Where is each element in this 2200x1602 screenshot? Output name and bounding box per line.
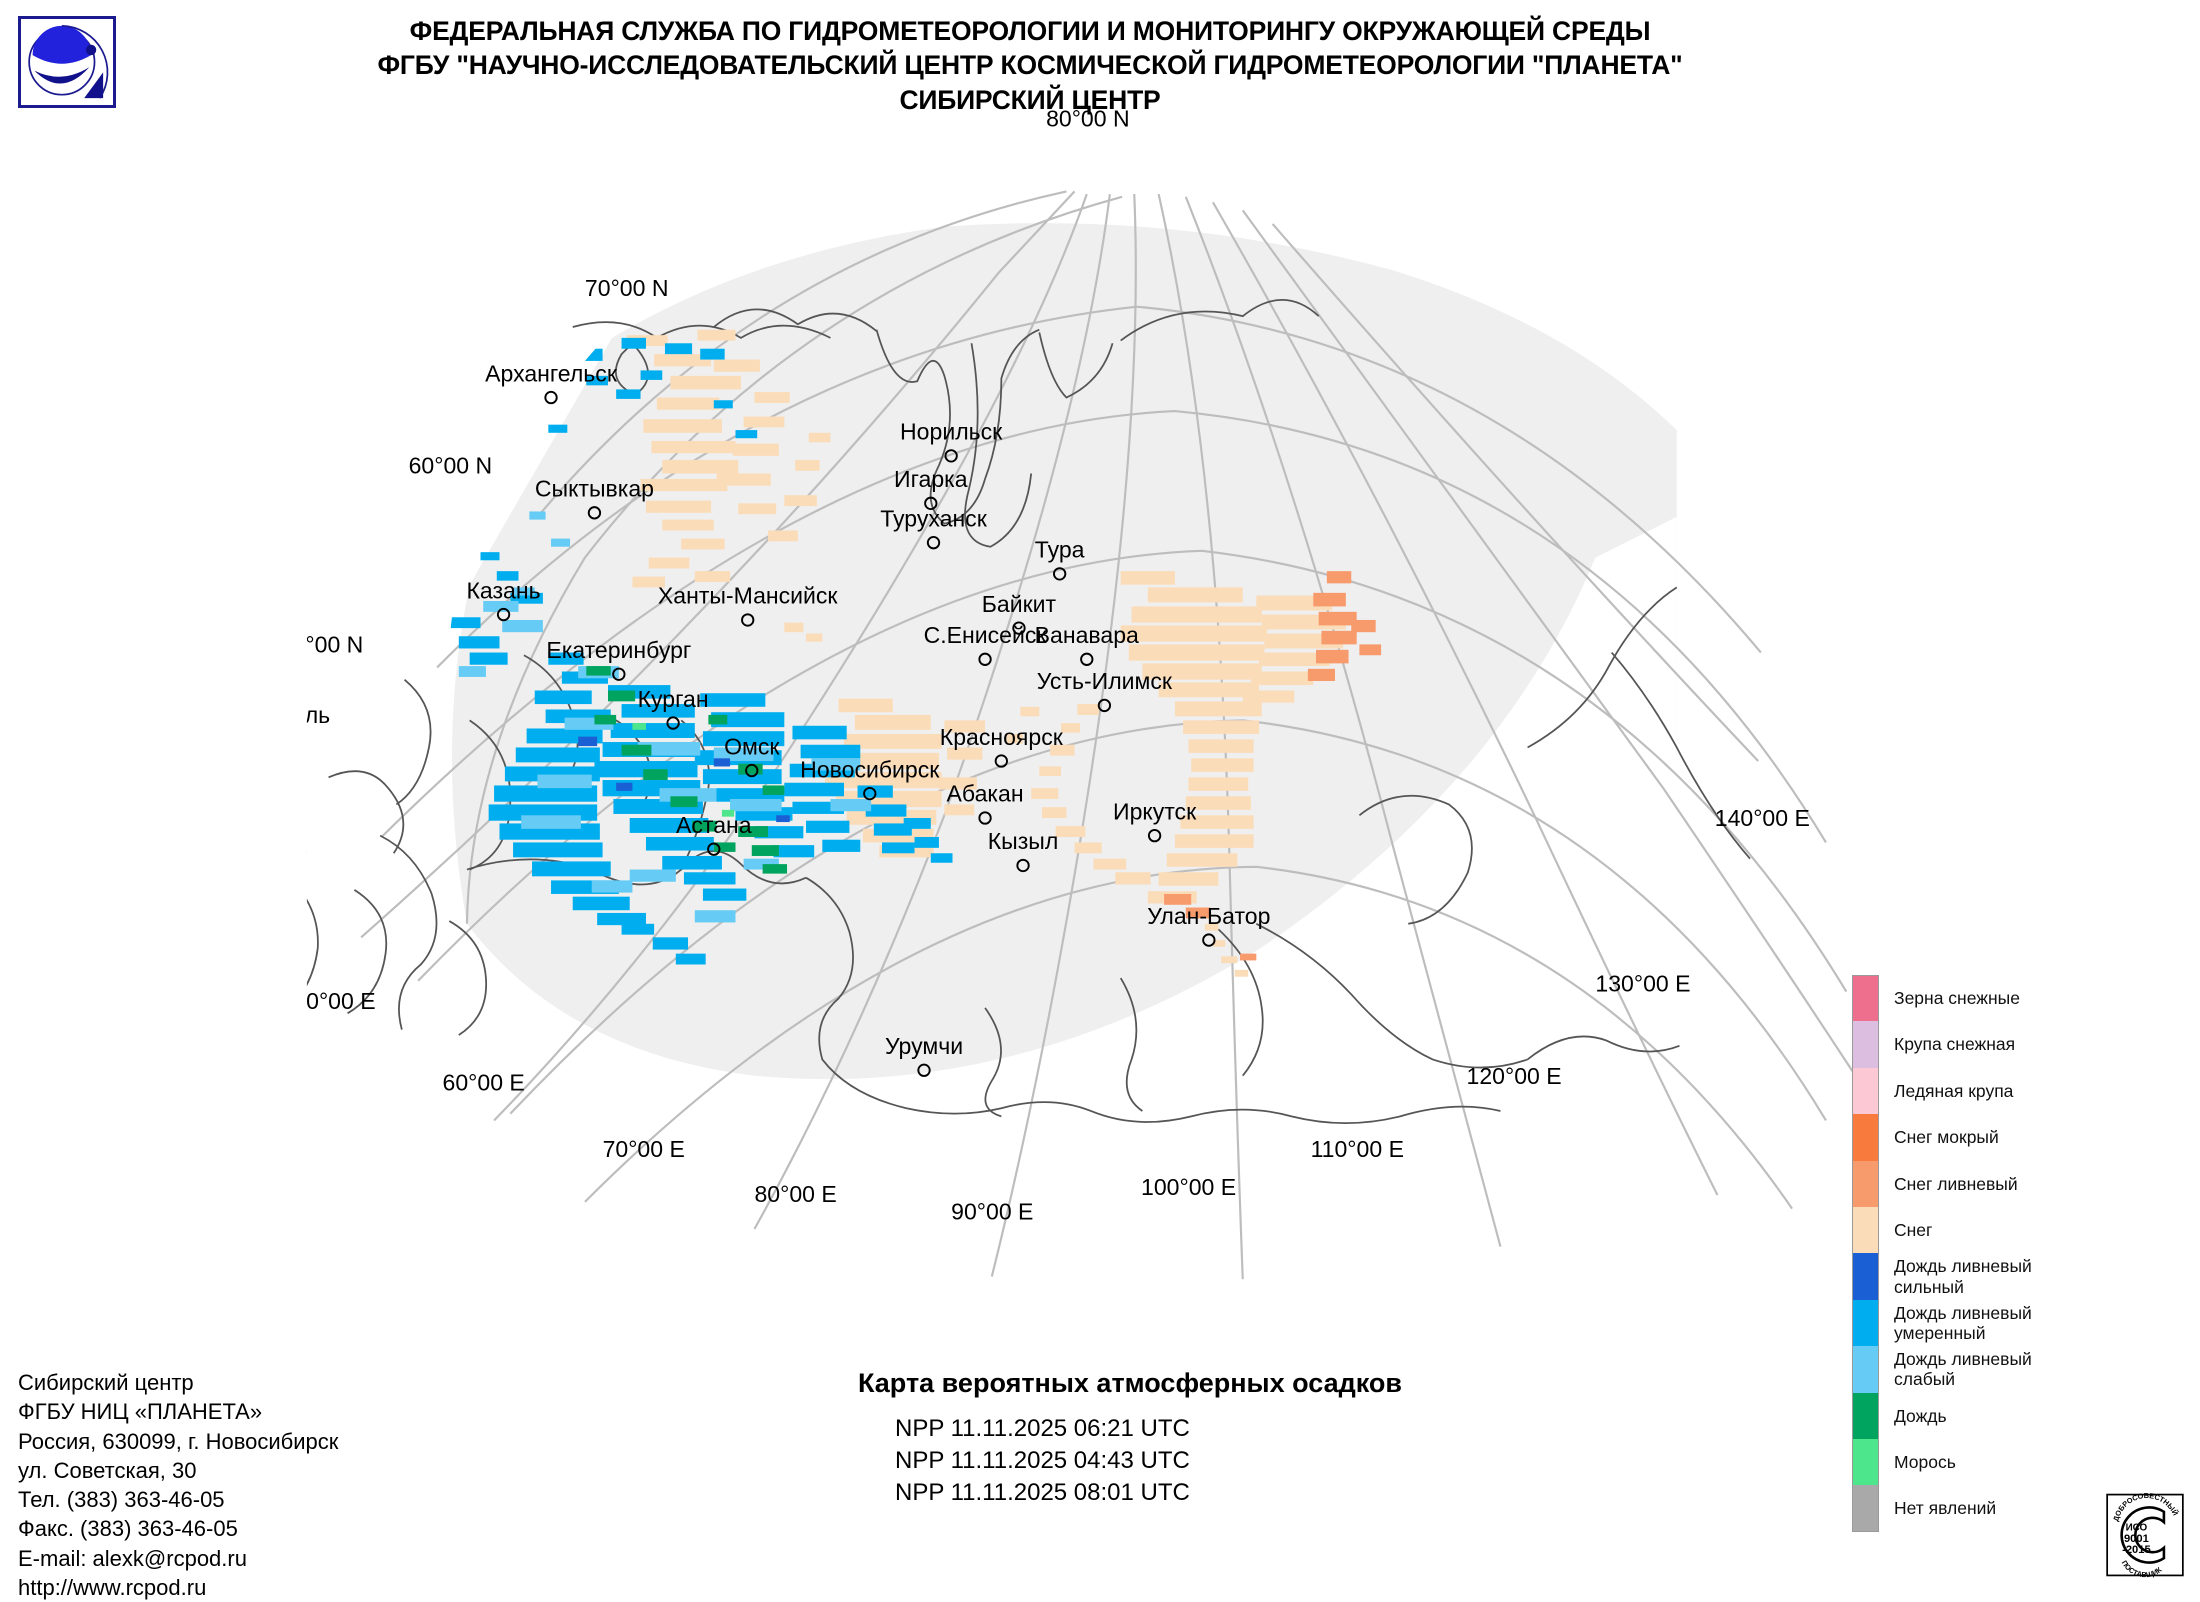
contact-block: Сибирский центр ФГБУ НИЦ «ПЛАНЕТА» Росси…: [18, 1368, 338, 1602]
map-caption: Карта вероятных атмосферных осадков NPP …: [600, 1368, 1660, 1509]
graticule-label: 60°00 N: [409, 452, 493, 478]
city-point-icon: [545, 392, 556, 403]
city-label: Тура: [1035, 537, 1085, 563]
svg-text:-2015: -2015: [2122, 1544, 2151, 1556]
graticule-label: 70°00 E: [603, 1136, 685, 1162]
legend-row[interactable]: Ледяная крупа: [1852, 1068, 2182, 1114]
header-line-2: ФГБУ "НАУЧНО-ИССЛЕДОВАТЕЛЬСКИЙ ЦЕНТР КОС…: [150, 48, 1910, 82]
legend-row[interactable]: Дождь ливневый слабый: [1852, 1346, 2182, 1392]
legend-color-swatch: [1852, 1393, 1879, 1439]
contact-phone: Тел. (383) 363-46-05: [18, 1485, 338, 1514]
legend-label: Дождь ливневый сильный: [1894, 1256, 2032, 1297]
legend-color-swatch: [1852, 975, 1879, 1021]
svg-text:9001: 9001: [2124, 1533, 2149, 1545]
planeta-logo: [18, 16, 116, 108]
contact-fax: Факс. (383) 363-46-05: [18, 1514, 338, 1543]
graticule-label: 140°00 E: [1715, 805, 1810, 831]
legend-row[interactable]: Снег ливневый: [1852, 1161, 2182, 1207]
caption-pass-3: NPP 11.11.2025 08:01 UTC: [895, 1477, 1660, 1509]
precipitation-map[interactable]: 80°00 N70°00 N60°00 N50°00 N40°00 N40°00…: [300, 110, 1860, 1290]
city-label: Курган: [638, 686, 709, 712]
graticule-label: 80°00 N: [1046, 110, 1130, 131]
graticule-label: 90°00 E: [951, 1198, 1033, 1224]
legend-label: Дождь ливневый слабый: [1894, 1349, 2032, 1390]
legend-label: Зерна снежные: [1894, 988, 2020, 1008]
legend-label: Ледяная крупа: [1894, 1081, 2013, 1101]
caption-pass-2: NPP 11.11.2025 04:43 UTC: [895, 1445, 1660, 1477]
city-marker[interactable]: Ставрополь: [300, 702, 330, 745]
city-label: Туруханск: [880, 505, 987, 531]
city-label: Абакан: [947, 781, 1024, 807]
legend-label: Крупа снежная: [1894, 1034, 2015, 1054]
city-label: Омск: [724, 733, 780, 759]
legend-color-swatch: [1852, 1161, 1879, 1207]
city-label: Байкит: [982, 591, 1057, 617]
contact-email[interactable]: E-mail: alexk@rcpod.ru: [18, 1544, 338, 1573]
contact-website[interactable]: http://www.rcpod.ru: [18, 1573, 338, 1602]
graticule-label: 50°00 E: [300, 988, 376, 1014]
page-title: ФЕДЕРАЛЬНАЯ СЛУЖБА ПО ГИДРОМЕТЕОРОЛОГИИ …: [150, 14, 1910, 117]
city-label: Казань: [467, 577, 541, 603]
legend-label: Снег: [1894, 1220, 1932, 1240]
header-line-1: ФЕДЕРАЛЬНАЯ СЛУЖБА ПО ГИДРОМЕТЕОРОЛОГИИ …: [150, 14, 1910, 48]
graticule-label: 60°00 E: [443, 1070, 525, 1096]
city-label: Сыктывкар: [535, 476, 654, 502]
legend-color-swatch: [1852, 1253, 1879, 1299]
legend-label: Снег мокрый: [1894, 1127, 1999, 1147]
map-canvas[interactable]: 80°00 N70°00 N60°00 N50°00 N40°00 N40°00…: [300, 110, 1860, 1290]
city-label: Иркутск: [1113, 798, 1197, 824]
caption-title: Карта вероятных атмосферных осадков: [600, 1368, 1660, 1399]
legend-color-swatch: [1852, 1114, 1879, 1160]
legend-row[interactable]: Снег мокрый: [1852, 1114, 2182, 1160]
legend-row[interactable]: Зерна снежные: [1852, 975, 2182, 1021]
city-label: Урумчи: [885, 1033, 963, 1059]
legend-row[interactable]: Снег: [1852, 1207, 2182, 1253]
city-label: Екатеринбург: [546, 637, 691, 663]
city-label: Игарка: [894, 466, 968, 492]
city-label: Усть-Илимск: [1037, 668, 1173, 694]
legend-row[interactable]: Дождь: [1852, 1393, 2182, 1439]
legend-label: Дождь: [1894, 1406, 1947, 1426]
contact-address-street: ул. Советская, 30: [18, 1456, 338, 1485]
legend-color-swatch: [1852, 1346, 1879, 1392]
legend-label: Снег ливневый: [1894, 1174, 2018, 1194]
city-label: Улан-Батор: [1147, 903, 1270, 929]
legend-color-swatch: [1852, 1207, 1879, 1253]
caption-pass-1: NPP 11.11.2025 06:21 UTC: [895, 1413, 1660, 1445]
precipitation-legend: Зерна снежныеКрупа снежнаяЛедяная крупаС…: [1852, 975, 2182, 1540]
legend-label: Морось: [1894, 1452, 1956, 1472]
graticule-label: 110°00 E: [1311, 1136, 1404, 1162]
graticule-label: 80°00 E: [754, 1181, 836, 1207]
legend-color-swatch: [1852, 1439, 1879, 1485]
graticule-label: 130°00 E: [1595, 971, 1690, 997]
legend-label: Дождь ливневый умеренный: [1894, 1303, 2032, 1344]
legend-row[interactable]: Дождь ливневый сильный: [1852, 1253, 2182, 1299]
legend-color-swatch: [1852, 1485, 1879, 1531]
contact-org-name: ФГБУ НИЦ «ПЛАНЕТА»: [18, 1397, 338, 1426]
graticule-label: 50°00 N: [300, 632, 363, 658]
city-label: С.Енисейск: [924, 622, 1048, 648]
legend-row[interactable]: Дождь ливневый умеренный: [1852, 1300, 2182, 1346]
contact-address-city: Россия, 630099, г. Новосибирск: [18, 1427, 338, 1456]
city-label: Ставрополь: [300, 702, 330, 728]
logo-globe-icon: [21, 19, 113, 105]
contact-center-name: Сибирский центр: [18, 1368, 338, 1397]
city-label: Ханты-Мансийск: [658, 583, 839, 609]
city-label: Новосибирск: [800, 756, 940, 782]
graticule-label: 40°00 E: [300, 832, 308, 858]
legend-color-swatch: [1852, 1021, 1879, 1067]
legend-color-swatch: [1852, 1300, 1879, 1346]
legend-row[interactable]: Крупа снежная: [1852, 1021, 2182, 1067]
city-label: Ванавара: [1035, 622, 1139, 648]
city-label: Кызыл: [988, 828, 1059, 854]
city-label: Норильск: [900, 419, 1003, 445]
graticule-label: 120°00 E: [1467, 1063, 1562, 1089]
graticule-label: 100°00 E: [1141, 1174, 1236, 1200]
legend-row[interactable]: Морось: [1852, 1439, 2182, 1485]
city-label: Красноярск: [940, 724, 1064, 750]
legend-label: Нет явлений: [1894, 1498, 1996, 1518]
iso-9001-stamp: ДОБРОСОВЕСТНЫЙ ПОСТАВЩИК ИСО 9001 -2015: [2102, 1487, 2188, 1583]
city-label: Архангельск: [485, 360, 618, 386]
iso-certification-icon: ДОБРОСОВЕСТНЫЙ ПОСТАВЩИК ИСО 9001 -2015: [2102, 1487, 2188, 1583]
graticule-label: 70°00 N: [585, 275, 669, 301]
city-label: Астана: [676, 812, 752, 838]
legend-color-swatch: [1852, 1068, 1879, 1114]
